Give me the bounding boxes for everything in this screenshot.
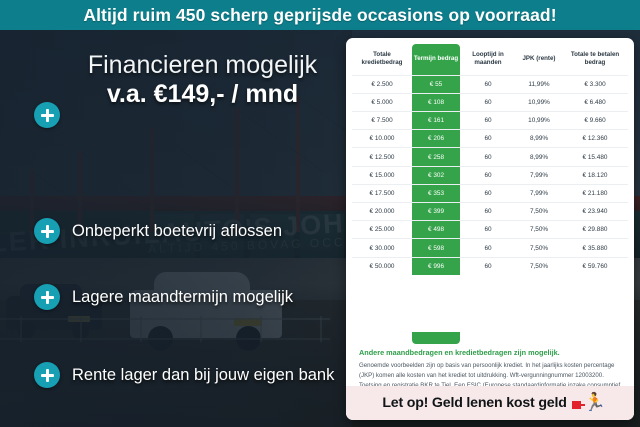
credit-warning-text: Let op! Geld lenen kost geld: [382, 395, 566, 411]
financing-table: Totale kredietbedragTermijn bedragLoopti…: [352, 44, 628, 275]
table-cell: € 9.660: [562, 112, 628, 130]
table-cell: € 12.360: [562, 130, 628, 148]
table-cell: € 7.500: [352, 112, 412, 130]
table-cell: 7,50%: [516, 203, 562, 221]
table-cell: 10,99%: [516, 112, 562, 130]
highlight-column-cap: [412, 332, 460, 344]
money-bag-shape: [572, 401, 581, 409]
table-cell: € 23.940: [562, 203, 628, 221]
table-header-cell: Termijn bedrag: [412, 44, 460, 75]
table-cell: € 29.880: [562, 221, 628, 239]
table-cell: € 2.500: [352, 75, 412, 93]
plus-icon: [34, 218, 60, 244]
table-cell: € 399: [412, 203, 460, 221]
table-cell: 60: [460, 239, 516, 257]
table-row: € 7.500€ 1616010,99%€ 9.660: [352, 112, 628, 130]
table-cell: 60: [460, 257, 516, 275]
advertisement-banner: LER INRUILAUTO'S JOHAN MEURE ALTIJD 450 …: [0, 0, 640, 427]
table-cell: € 59.760: [562, 257, 628, 275]
table-cell: € 206: [412, 130, 460, 148]
runner-glyph: 🏃: [584, 393, 606, 412]
table-cell: € 598: [412, 239, 460, 257]
table-cell: 11,99%: [516, 75, 562, 93]
table-row: € 17.500€ 353607,99%€ 21.180: [352, 184, 628, 202]
table-row: € 25.000€ 498607,50%€ 29.880: [352, 221, 628, 239]
table-row: € 10.000€ 206608,99%€ 12.360: [352, 130, 628, 148]
table-cell: € 12.500: [352, 148, 412, 166]
table-cell: € 30.000: [352, 239, 412, 257]
table-row: € 15.000€ 302607,99%€ 18.120: [352, 166, 628, 184]
headline-line-1: Financieren mogelijk: [60, 52, 345, 78]
disclaimer-heading: Andere maandbedragen en kredietbedragen …: [359, 348, 621, 357]
table-header-cell: Totale te betalen bedrag: [562, 44, 628, 75]
table-row: € 5.000€ 1086010,99%€ 6.480: [352, 93, 628, 111]
table-header-cell: Totale kredietbedrag: [352, 44, 412, 75]
table-cell: 60: [460, 203, 516, 221]
feature-bullet-1: Onbeperkt boetevrij aflossen: [34, 218, 282, 244]
table-cell: € 302: [412, 166, 460, 184]
table-row: € 50.000€ 996607,50%€ 59.760: [352, 257, 628, 275]
table-cell: 10,99%: [516, 93, 562, 111]
left-content-column: Financieren mogelijk v.a. €149,- / mnd O…: [0, 30, 352, 427]
plus-icon: [34, 102, 60, 128]
financing-card: Totale kredietbedragTermijn bedragLoopti…: [346, 38, 634, 420]
table-cell: € 25.000: [352, 221, 412, 239]
table-cell: 60: [460, 184, 516, 202]
headline-bullet: [34, 102, 60, 128]
table-header-row: Totale kredietbedragTermijn bedragLoopti…: [352, 44, 628, 75]
table-cell: € 161: [412, 112, 460, 130]
feature-bullet-2: Lagere maandtermijn mogelijk: [34, 284, 293, 310]
table-cell: € 35.880: [562, 239, 628, 257]
table-cell: 7,99%: [516, 166, 562, 184]
table-cell: 60: [460, 166, 516, 184]
feature-bullet-1-label: Onbeperkt boetevrij aflossen: [72, 222, 282, 241]
table-cell: € 10.000: [352, 130, 412, 148]
table-cell: 8,99%: [516, 130, 562, 148]
banner-text: Altijd ruim 450 scherp geprijsde occasio…: [83, 5, 556, 26]
table-cell: 7,50%: [516, 257, 562, 275]
table-cell: € 108: [412, 93, 460, 111]
table-cell: 60: [460, 148, 516, 166]
running-man-warning-icon: 🏃: [572, 393, 598, 413]
table-cell: € 353: [412, 184, 460, 202]
headline-line-2: v.a. €149,- / mnd: [60, 80, 345, 109]
table-body: € 2.500€ 556011,99%€ 3.300€ 5.000€ 10860…: [352, 75, 628, 275]
table-cell: € 20.000: [352, 203, 412, 221]
table-cell: 60: [460, 221, 516, 239]
table-cell: € 21.180: [562, 184, 628, 202]
page-title: Financieren mogelijk v.a. €149,- / mnd: [60, 52, 345, 109]
table-cell: 8,99%: [516, 148, 562, 166]
table-row: € 12.500€ 258608,99%€ 15.480: [352, 148, 628, 166]
plus-icon: [34, 362, 60, 388]
table-cell: 60: [460, 93, 516, 111]
top-banner: Altijd ruim 450 scherp geprijsde occasio…: [0, 0, 640, 30]
table-cell: € 50.000: [352, 257, 412, 275]
table-cell: 60: [460, 130, 516, 148]
table-cell: 7,50%: [516, 239, 562, 257]
table-cell: € 258: [412, 148, 460, 166]
plus-icon: [34, 284, 60, 310]
table-row: € 30.000€ 598607,50%€ 35.880: [352, 239, 628, 257]
table-cell: € 18.120: [562, 166, 628, 184]
table-cell: € 55: [412, 75, 460, 93]
table-cell: 60: [460, 75, 516, 93]
feature-bullet-2-label: Lagere maandtermijn mogelijk: [72, 288, 293, 307]
table-row: € 2.500€ 556011,99%€ 3.300: [352, 75, 628, 93]
table-header-cell: JPK (rente): [516, 44, 562, 75]
table-cell: 7,99%: [516, 184, 562, 202]
table-cell: € 17.500: [352, 184, 412, 202]
table-cell: € 15.480: [562, 148, 628, 166]
feature-bullet-3: Rente lager dan bij jouw eigen bank: [34, 362, 334, 388]
table-cell: € 996: [412, 257, 460, 275]
table-cell: € 498: [412, 221, 460, 239]
table-cell: € 5.000: [352, 93, 412, 111]
table-cell: 7,50%: [516, 221, 562, 239]
table-cell: € 6.480: [562, 93, 628, 111]
table-header-cell: Looptijd in maanden: [460, 44, 516, 75]
table-cell: € 3.300: [562, 75, 628, 93]
credit-warning-strip: Let op! Geld lenen kost geld 🏃: [346, 386, 634, 420]
table-cell: 60: [460, 112, 516, 130]
table-row: € 20.000€ 399607,50%€ 23.940: [352, 203, 628, 221]
table-cell: € 15.000: [352, 166, 412, 184]
feature-bullet-3-label: Rente lager dan bij jouw eigen bank: [72, 366, 334, 385]
